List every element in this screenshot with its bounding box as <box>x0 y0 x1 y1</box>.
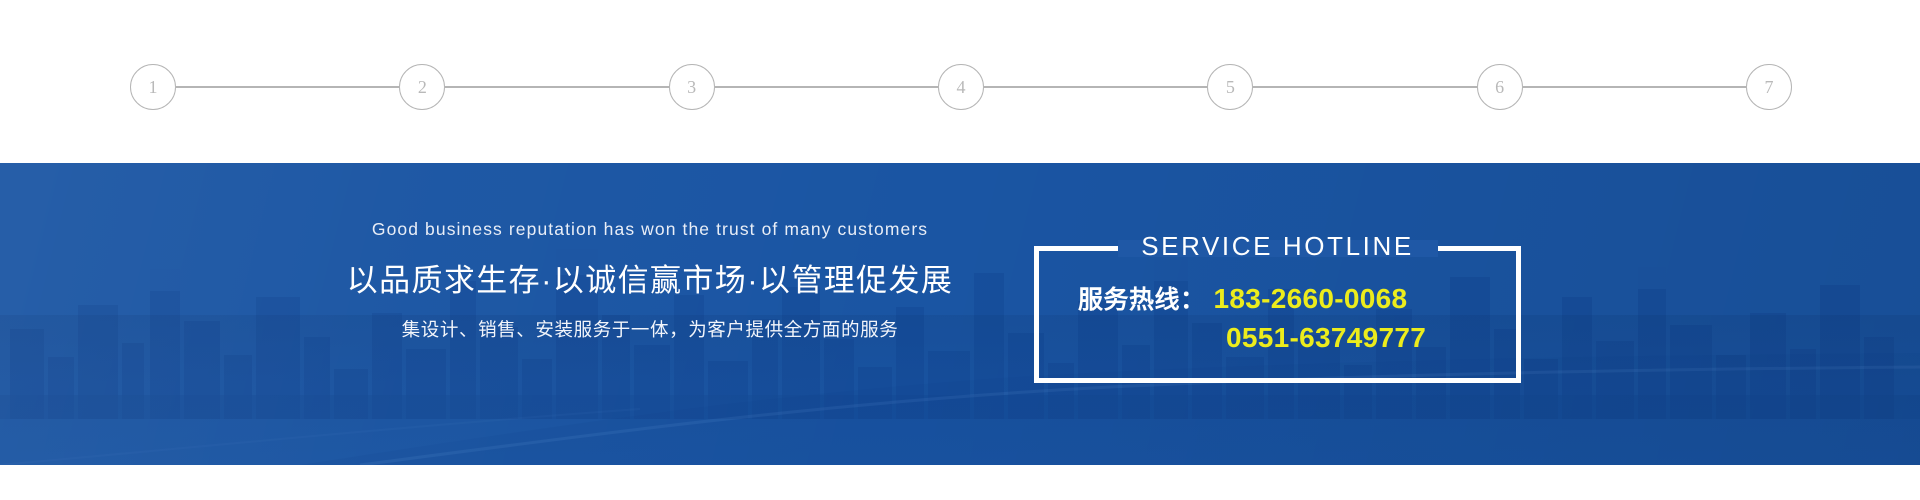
step-number-label: 3 <box>687 78 696 96</box>
step-node-2[interactable]: 2 <box>399 64 445 110</box>
step-node-1[interactable]: 1 <box>130 64 176 110</box>
step-number-label: 6 <box>1495 78 1504 96</box>
page-root: 1 2 3 4 5 6 7 <box>0 0 1920 500</box>
slogan-block: Good business reputation has won the tru… <box>330 219 970 342</box>
step-node-7[interactable]: 7 <box>1746 64 1792 110</box>
hotline-label-text: 服务热线： <box>1078 280 1206 316</box>
slogan-headline-text: 以品质求生存·以诚信赢市场·以管理促发展 <box>330 255 970 300</box>
step-connector-3-4 <box>715 86 938 88</box>
hotline-title-label: SERVICE HOTLINE <box>1034 231 1521 262</box>
step-connector-5-6 <box>1253 86 1476 88</box>
step-number-label: 5 <box>1226 78 1235 96</box>
step-progress-bar: 1 2 3 4 5 6 7 <box>130 63 1792 111</box>
step-node-4[interactable]: 4 <box>938 64 984 110</box>
step-connector-4-5 <box>984 86 1207 88</box>
hotline-phone-secondary[interactable]: 0551-63749777 <box>1226 322 1426 354</box>
service-hotline-box: SERVICE HOTLINE 服务热线： 183-2660-0068 0551… <box>1034 246 1521 383</box>
step-connector-6-7 <box>1523 86 1746 88</box>
step-number-label: 2 <box>418 78 427 96</box>
step-number-label: 1 <box>149 78 158 96</box>
hotline-primary-row: 服务热线： 183-2660-0068 <box>1078 280 1521 316</box>
blue-promo-banner: Good business reputation has won the tru… <box>0 163 1920 465</box>
step-connector-1-2 <box>176 86 399 88</box>
hotline-numbers-group: 服务热线： 183-2660-0068 0551-63749777 <box>1034 280 1521 354</box>
step-number-label: 7 <box>1764 78 1773 96</box>
slogan-subline-text: 集设计、销售、安装服务于一体，为客户提供全方面的服务 <box>330 316 970 342</box>
step-node-5[interactable]: 5 <box>1207 64 1253 110</box>
hotline-secondary-row: 0551-63749777 <box>1078 322 1521 354</box>
step-number-label: 4 <box>956 78 965 96</box>
step-node-3[interactable]: 3 <box>669 64 715 110</box>
step-node-6[interactable]: 6 <box>1477 64 1523 110</box>
slogan-english-text: Good business reputation has won the tru… <box>330 219 970 240</box>
step-connector-2-3 <box>445 86 668 88</box>
hotline-phone-primary[interactable]: 183-2660-0068 <box>1214 283 1408 315</box>
